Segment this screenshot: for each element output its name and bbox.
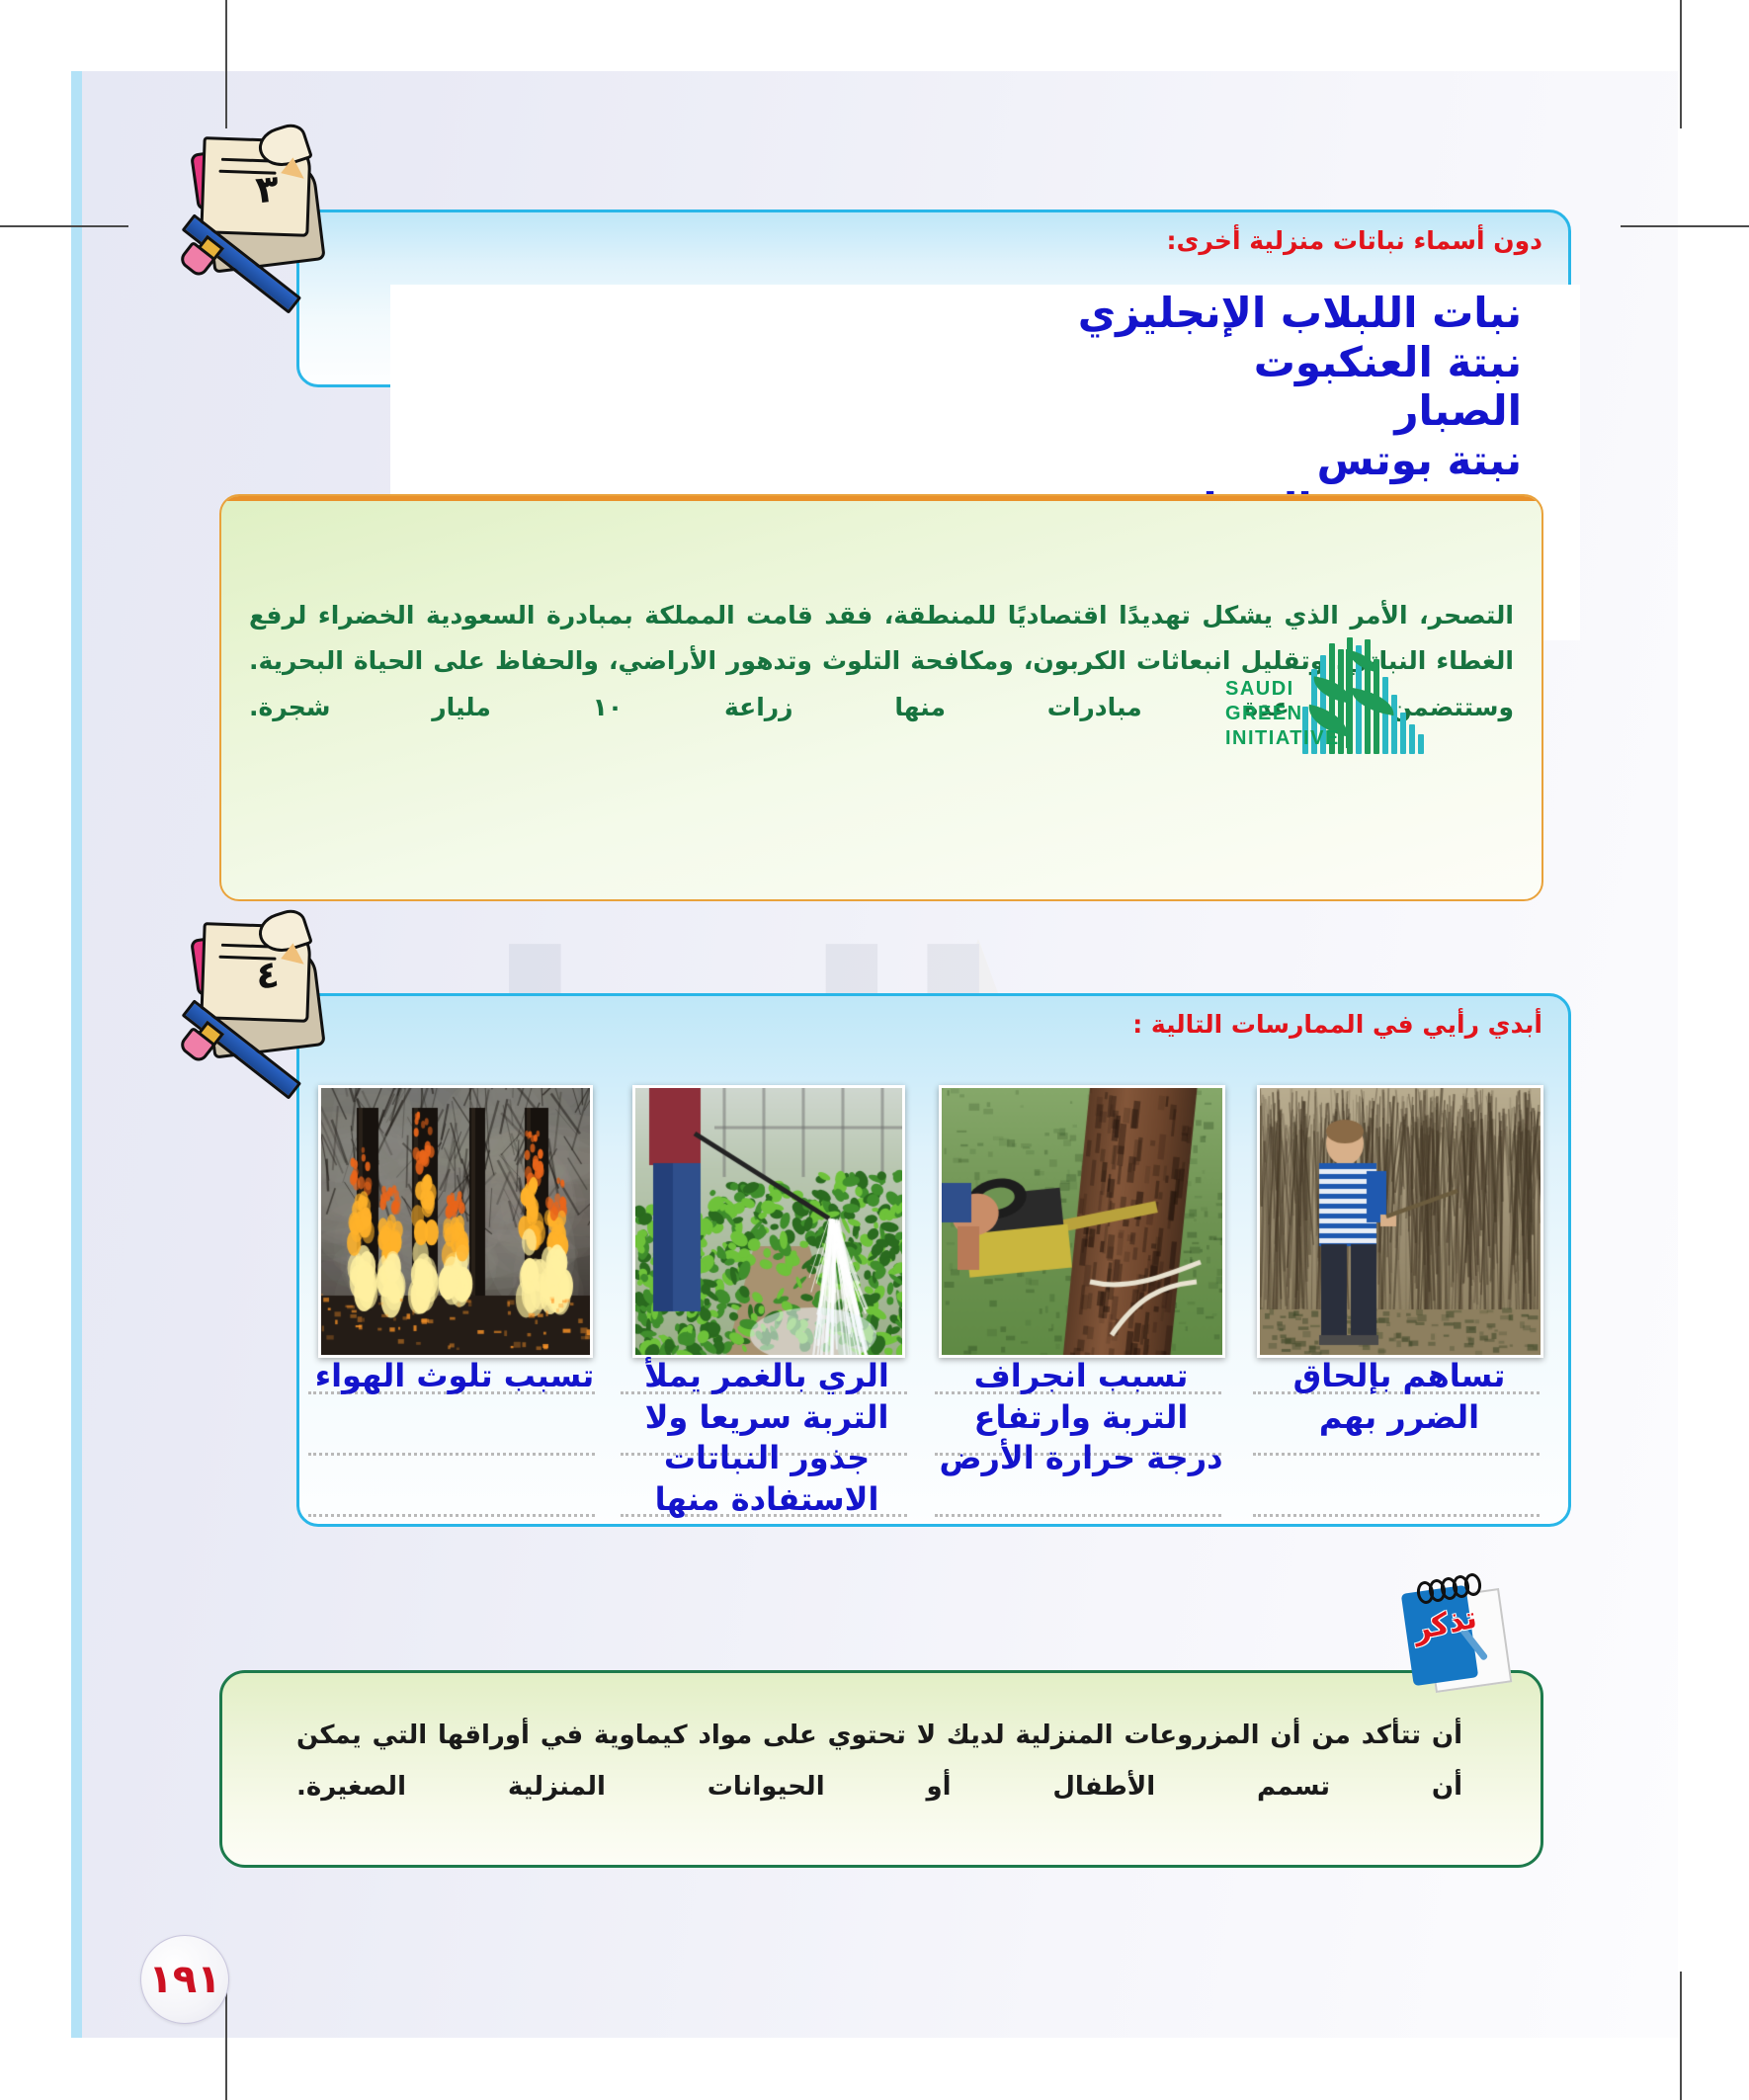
practice-photo-flood-irrigation [632,1085,905,1358]
sgi-wordmark: SAUDI GREEN INITIATIVE [1225,677,1340,751]
sgi-word-line: GREEN [1225,702,1340,726]
answer-rule [308,1453,595,1456]
crop-mark-left-top [0,225,128,227]
textbook-page: دالها b a h a r y a . c o m دون أسماء نب… [0,0,1749,2100]
practice-answer-2: تسبب انجراف التربة وارتفاع درجة حرارة ال… [935,1356,1227,1479]
crop-mark-right-top [1621,225,1749,227]
crop-mark-bottom-right [1680,1972,1682,2100]
sgi-bar [1418,734,1424,754]
practice-photo-chainsaw-cutting-tree [939,1085,1225,1358]
practice-photo-forest-fire [318,1085,593,1358]
notepad-number-3: ٣ [254,166,282,211]
notepad-pencil-icon-3: ٣ [198,148,346,287]
question-4-prompt: أبدي رأيي في الممارسات التالية : [325,1010,1542,1039]
sgi-word-line: INITIATIVE [1225,726,1340,751]
answer-rule [1253,1514,1540,1517]
answer-rule [1253,1453,1540,1456]
answer-line: نبتة بوتس [435,436,1522,485]
sgi-bar [1382,677,1388,754]
notepad-pencil-icon-4: ٤ [198,934,346,1072]
practice-photo-boy-breaking-branches [1257,1085,1543,1358]
notepad-number-4: ٤ [254,952,282,997]
sgi-word-line: SAUDI [1225,677,1340,702]
sgi-bar [1409,724,1415,754]
question-3-prompt: دون أسماء نباتات منزلية أخرى: [325,226,1542,255]
remember-box-text: أن تتأكد من أن المزروعات المنزلية لديك ل… [296,1710,1462,1812]
page-edge-strip [71,71,82,2038]
answer-rule [308,1514,595,1517]
practice-answer-3: الري بالغمر يملأ التربة سريعا ولا جذور ا… [621,1356,913,1520]
page-number: ١٩١ [140,1935,229,2024]
answer-line: نبات اللبلاب الإنجليزي [435,289,1522,338]
answer-line: نبتة العنكبوت [435,338,1522,387]
sgi-bar [1400,713,1406,754]
info-box-top-accent [221,496,1541,501]
crop-mark-top-right [1680,0,1682,128]
practice-answer-1: تساهم بإلحاق الضرر بهم [1253,1356,1545,1438]
practice-answer-4: تسبب تلوث الهواء [308,1356,601,1397]
answer-line: الصبار [435,386,1522,436]
answer-rule [935,1514,1221,1517]
remember-notepad-icon: تذكر [1403,1577,1510,1694]
crop-mark-top-left [225,0,227,128]
sgi-bar [1391,695,1397,754]
saudi-green-initiative-logo: SAUDI GREEN INITIATIVE [1225,637,1433,768]
